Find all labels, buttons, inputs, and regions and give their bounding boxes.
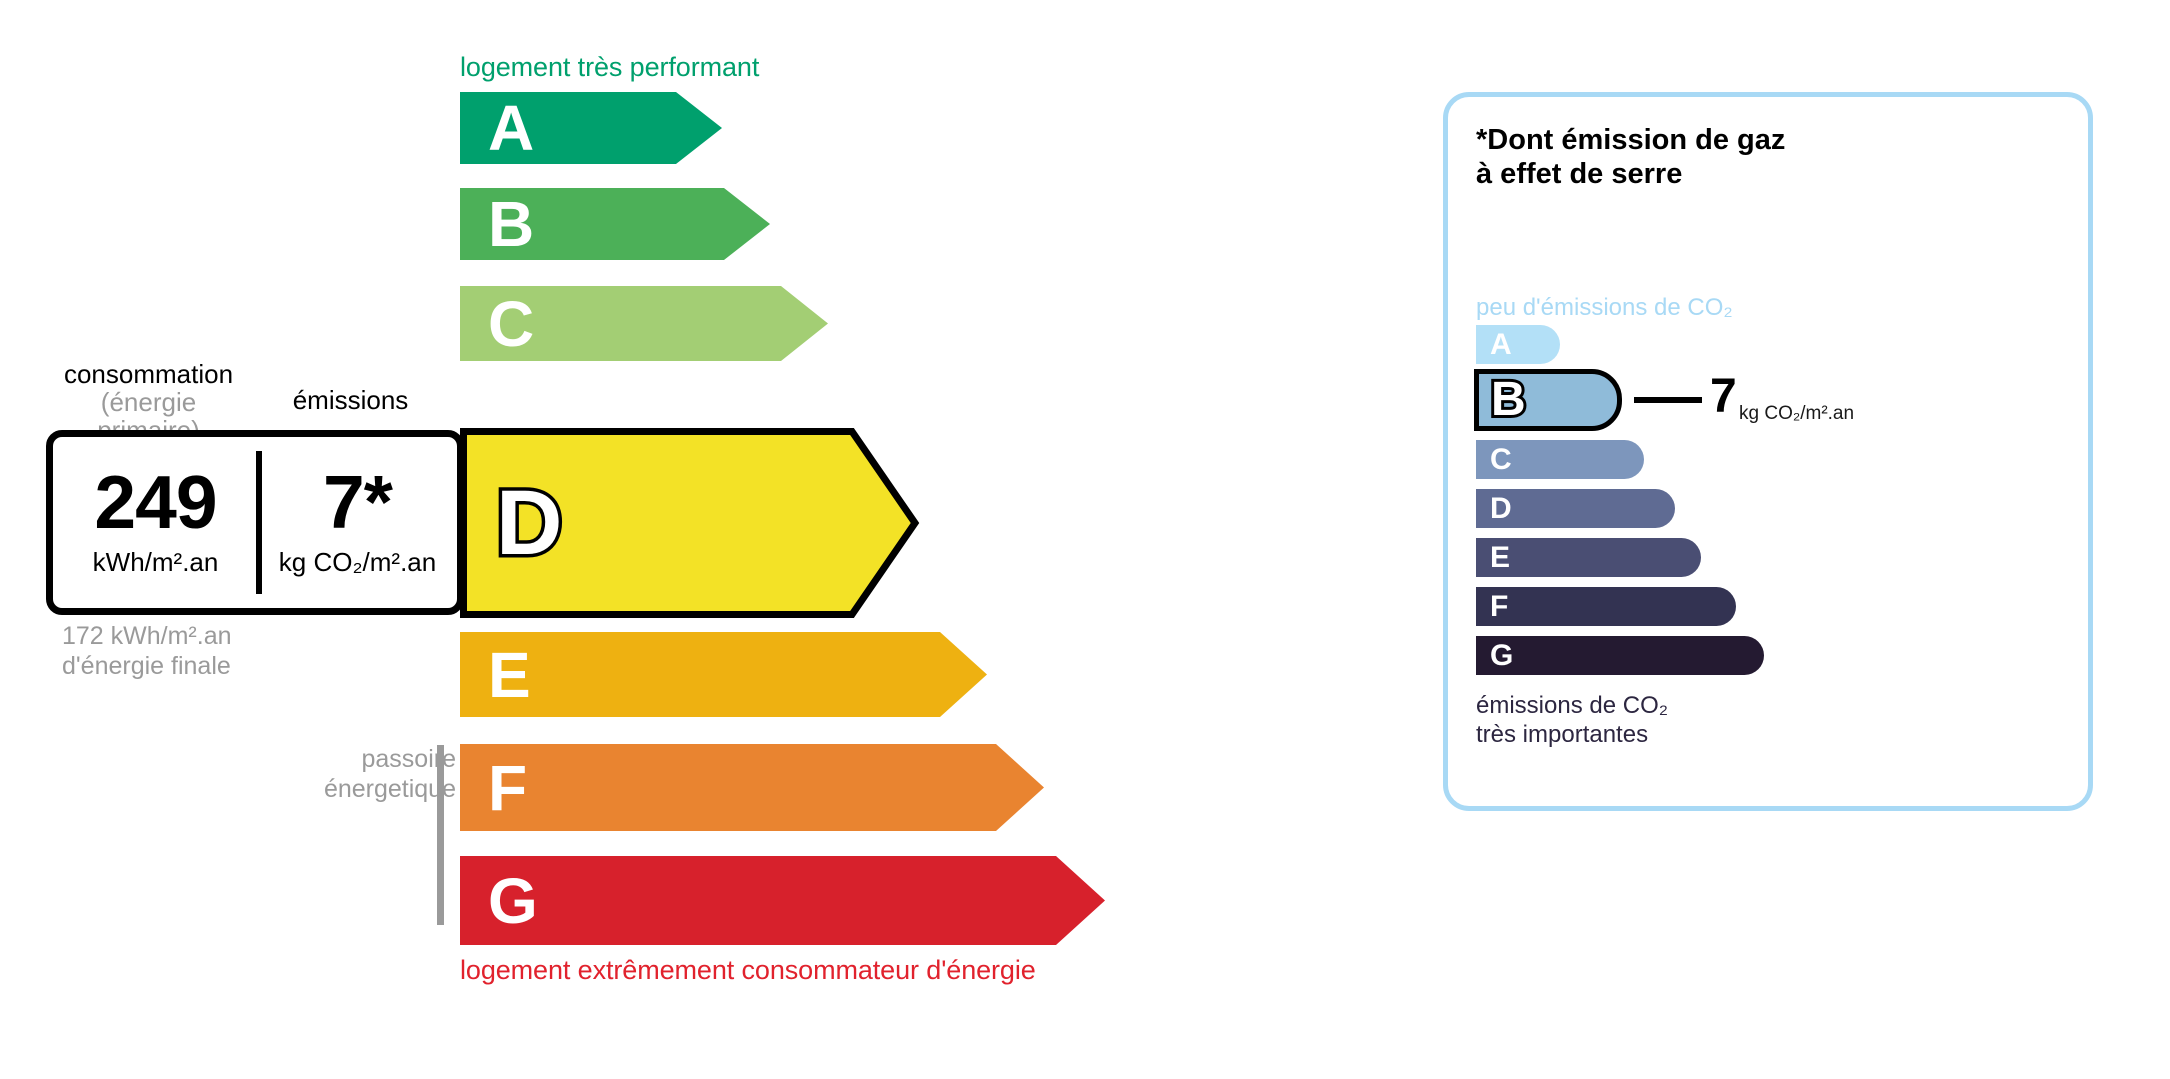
energy-value-box: 249 kWh/m².an 7* kg CO₂/m².an (46, 430, 464, 615)
passoire-energetique-bracket (437, 745, 444, 925)
ges-bottom-caption: émissions de CO₂ très importantes (1476, 692, 1668, 750)
final-energy-text-line: d'énergie finale (62, 652, 232, 682)
emissions-value: 7* (323, 467, 392, 538)
ges-panel-title: *Dont émission de gaz à effet de serre (1476, 123, 1785, 191)
passoire-line-2: énergetique (256, 775, 456, 805)
energy-band-f[interactable]: F (460, 744, 1060, 831)
ges-bar-f[interactable]: F (1476, 587, 1736, 626)
energy-band-b-letter: B (488, 192, 534, 256)
ges-bottom-caption-line-2: très importantes (1476, 721, 1668, 750)
final-energy-value-line: 172 kWh/m².an (62, 622, 232, 652)
ges-panel-title-line-2: à effet de serre (1476, 157, 1785, 191)
ges-panel-title-line-1: *Dont émission de gaz (1476, 123, 1785, 157)
ges-top-caption: peu d'émissions de CO₂ (1476, 294, 1733, 322)
energy-band-a-letter: A (488, 96, 534, 160)
primary-energy-value: 249 (94, 467, 216, 538)
energy-band-e[interactable]: E (460, 632, 1000, 717)
ges-bar-a-letter: A (1490, 330, 1512, 360)
energy-band-g-arrow (460, 856, 1105, 945)
ges-bar-d-letter: D (1490, 494, 1512, 524)
ges-bar-e[interactable]: E (1476, 538, 1701, 577)
ges-bar-f-letter: F (1490, 592, 1508, 622)
emissions-cell: 7* kg CO₂/m².an (258, 437, 457, 608)
energy-band-e-letter: E (488, 643, 531, 707)
ges-value-leader-line (1634, 397, 1702, 403)
energy-scale-top-caption: logement très performant (460, 52, 759, 83)
energy-band-c-letter: C (488, 292, 534, 356)
passoire-line-1: passoire (256, 745, 456, 775)
ges-bar-g[interactable]: G (1476, 636, 1764, 675)
energy-band-f-arrow (460, 744, 1044, 831)
passoire-energetique-label: passoire énergetique (256, 745, 456, 804)
primary-energy-unit: kWh/m².an (93, 547, 219, 578)
energy-band-b[interactable]: B (460, 188, 780, 260)
energy-band-g-letter: G (488, 869, 538, 933)
ges-bottom-caption-line-1: émissions de CO₂ (1476, 692, 1668, 721)
consommation-label-main: consommation (64, 359, 233, 389)
energy-band-a[interactable]: A (460, 92, 730, 164)
ges-value-unit: kg CO₂/m².an (1739, 403, 1854, 425)
ges-emissions-panel: *Dont émission de gaz à effet de serre p… (1443, 92, 2093, 811)
ges-bar-c-letter: C (1490, 445, 1512, 475)
ges-bar-d[interactable]: D (1476, 489, 1675, 528)
ges-bar-e-letter: E (1490, 543, 1510, 573)
ges-bar-c[interactable]: C (1476, 440, 1644, 479)
energy-band-g[interactable]: G (460, 856, 1120, 945)
final-energy-note: 172 kWh/m².an d'énergie finale (62, 622, 232, 681)
ges-bar-b-letter: B (1491, 376, 1526, 424)
ges-bar-a[interactable]: A (1476, 325, 1560, 364)
energy-performance-diagram: logement très performant A B C D E (0, 0, 1400, 1079)
energy-band-e-arrow (460, 632, 987, 717)
primary-energy-cell: 249 kWh/m².an (53, 437, 258, 608)
ges-bar-b-selected[interactable]: B (1474, 369, 1622, 431)
emissions-unit: kg CO₂/m².an (279, 547, 436, 578)
energy-band-c[interactable]: C (460, 286, 840, 361)
ges-bar-g-letter: G (1490, 641, 1513, 671)
energy-band-d-letter: D (496, 477, 562, 569)
emissions-label: émissions (251, 385, 450, 416)
energy-band-d-selected[interactable]: D (460, 428, 930, 618)
energy-scale-bottom-caption: logement extrêmement consommateur d'éner… (460, 955, 1036, 986)
ges-value: 7 (1710, 373, 1737, 421)
energy-band-f-letter: F (488, 756, 527, 820)
